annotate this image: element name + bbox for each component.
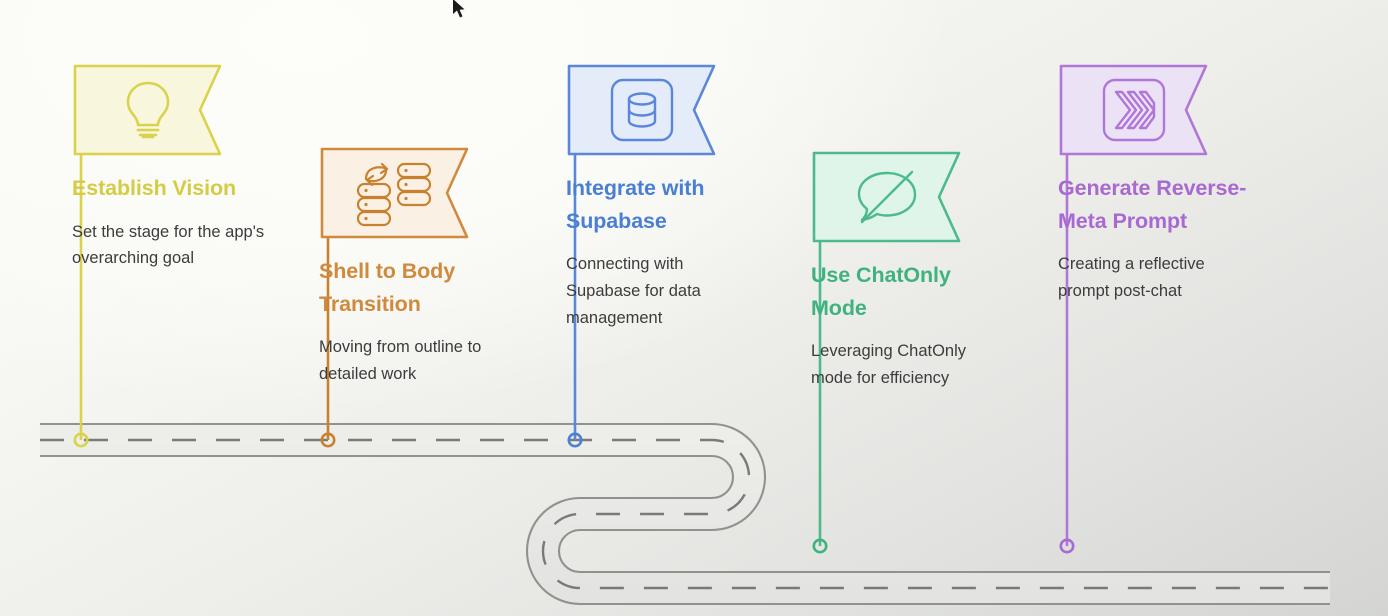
milestone-use-chatonly-mode[interactable]: Use ChatOnly Mode Leveraging ChatOnly mo… — [811, 149, 1019, 392]
milestone-description: Moving from outline to detailed work — [319, 334, 515, 387]
chat-disabled-icon — [811, 149, 963, 245]
milestone-shell-to-body-transition[interactable]: Shell to Body Transition Moving from out… — [319, 145, 527, 388]
infographic-canvas: Establish Vision Set the stage for the a… — [0, 0, 1388, 616]
milestone-description: Leveraging ChatOnly mode for efficiency — [811, 338, 1007, 391]
milestone-description: Creating a reflective prompt post-chat — [1058, 251, 1254, 304]
milestone-title: Generate Reverse-Meta Prompt — [1058, 172, 1248, 237]
milestone-description: Set the stage for the app's overarching … — [72, 219, 268, 272]
milestone-title: Shell to Body Transition — [319, 255, 509, 320]
flag-establish-vision — [72, 62, 224, 158]
milestone-generate-reverse-meta-prompt[interactable]: Generate Reverse-Meta Prompt Creating a … — [1058, 62, 1266, 305]
flag-integrate-with-supabase — [566, 62, 718, 158]
database-cylinder-icon — [566, 62, 718, 158]
lightbulb-icon — [72, 62, 224, 158]
flag-generate-reverse-meta-prompt — [1058, 62, 1210, 158]
milestone-integrate-with-supabase[interactable]: Integrate with Supabase Connecting with … — [566, 62, 774, 332]
milestone-description: Connecting with Supabase for data manage… — [566, 251, 762, 331]
chevrons-right-icon — [1058, 62, 1210, 158]
milestone-title: Integrate with Supabase — [566, 172, 756, 237]
milestone-title: Use ChatOnly Mode — [811, 259, 1001, 324]
milestone-establish-vision[interactable]: Establish Vision Set the stage for the a… — [72, 62, 280, 272]
database-sync-icon — [319, 145, 471, 241]
flag-use-chatonly-mode — [811, 149, 963, 245]
flag-shell-to-body-transition — [319, 145, 471, 241]
milestone-title: Establish Vision — [72, 172, 262, 205]
